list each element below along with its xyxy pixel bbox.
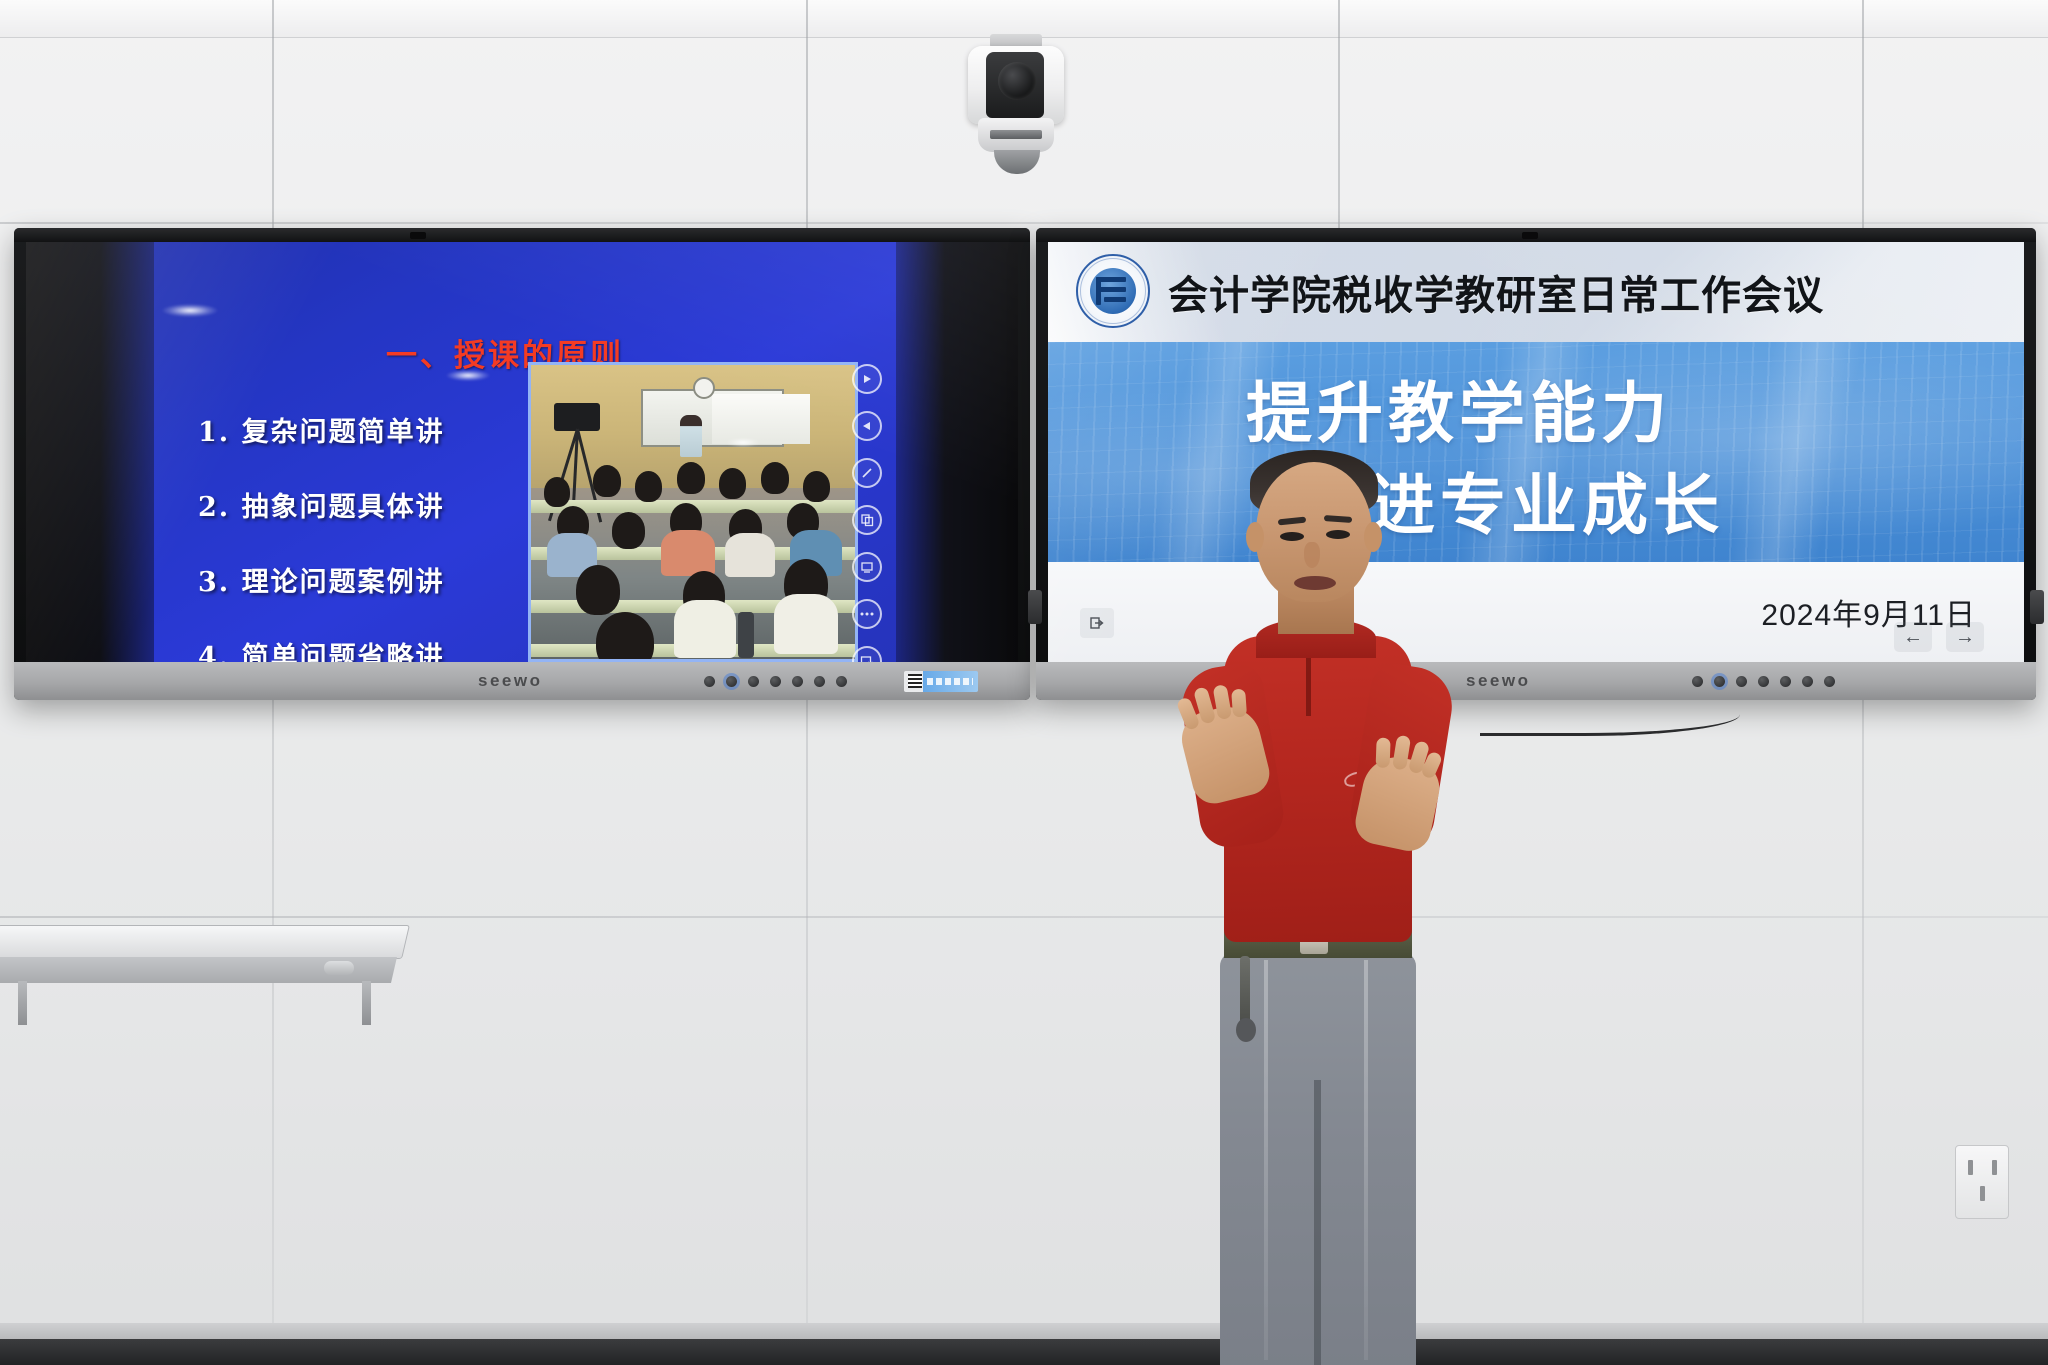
table-leg — [18, 981, 27, 1025]
qr-code-label — [904, 671, 978, 692]
qr-code-icon — [908, 674, 922, 688]
left-interactive-display[interactable]: 一、授课的原则 1. 复杂问题简单讲 2. 抽象问题具体讲 3. 理论问题案例讲… — [14, 228, 1030, 700]
presenter-nose — [1304, 542, 1320, 568]
photo-student-head — [635, 471, 662, 502]
play-icon[interactable] — [852, 364, 882, 394]
ir-sensor-icon — [410, 232, 426, 239]
previous-slide-button[interactable]: ← — [1894, 622, 1932, 652]
copy-icon[interactable] — [852, 505, 882, 535]
slide-photo-classroom — [528, 362, 858, 662]
control-button[interactable] — [704, 676, 715, 687]
presenter-ear — [1246, 522, 1264, 552]
display-side-button[interactable] — [1028, 590, 1042, 624]
control-button[interactable] — [792, 676, 803, 687]
wall-seam-horizontal — [0, 916, 2048, 918]
photo-student-head — [803, 471, 830, 502]
emblem-bar — [1096, 277, 1101, 305]
exit-show-icon[interactable] — [852, 646, 882, 662]
keys-lanyard — [1240, 956, 1250, 1026]
control-button[interactable] — [836, 676, 847, 687]
list-item: 3. 理论问题案例讲 — [198, 560, 445, 599]
list-item: 2. 抽象问题具体讲 — [198, 485, 445, 524]
table-leg — [362, 981, 371, 1025]
slide-letterbox-right — [896, 242, 1018, 662]
control-button[interactable] — [1736, 676, 1747, 687]
presenter-eye — [1326, 530, 1350, 539]
wall-outlet — [1955, 1145, 2009, 1219]
control-button[interactable] — [1802, 676, 1813, 687]
finger — [1231, 689, 1247, 718]
photo-student-head — [596, 612, 654, 662]
ptz-camera — [960, 34, 1072, 174]
presenter-eye — [1280, 532, 1304, 541]
presenter-mouth — [1294, 576, 1336, 590]
photo-student-body — [661, 530, 715, 576]
screen-share-icon[interactable] — [852, 552, 882, 582]
exit-fullscreen-icon[interactable] — [1080, 608, 1114, 638]
camera-base — [994, 150, 1040, 174]
power-button[interactable] — [1714, 676, 1725, 687]
presenter-ear — [1364, 522, 1382, 552]
ceiling-light-reflection — [162, 304, 218, 317]
control-button[interactable] — [1780, 676, 1791, 687]
photo-student-body — [725, 533, 775, 577]
university-emblem-icon — [1076, 254, 1150, 328]
photo-student-head — [612, 512, 645, 549]
presenter-person — [1128, 440, 1488, 1365]
previous-icon[interactable] — [852, 411, 882, 441]
emblem-bar — [1104, 297, 1126, 302]
trouser-crease — [1264, 960, 1268, 1360]
pen-icon[interactable] — [852, 458, 882, 488]
control-button[interactable] — [770, 676, 781, 687]
table-handle[interactable] — [324, 961, 354, 975]
control-button[interactable] — [748, 676, 759, 687]
table-top — [0, 925, 410, 959]
display-controls[interactable] — [704, 676, 847, 687]
control-button[interactable] — [1824, 676, 1835, 687]
ppt-toolbar[interactable] — [852, 364, 882, 662]
list-item: 1. 复杂问题简单讲 — [198, 410, 445, 449]
emblem-core — [1090, 268, 1136, 314]
control-button[interactable] — [814, 676, 825, 687]
trouser-leg-split — [1314, 1080, 1321, 1365]
photo-student-head — [576, 565, 620, 615]
outlet-slot — [1992, 1160, 1997, 1175]
photo-student-head — [761, 462, 789, 494]
ir-sensor-icon — [1522, 232, 1538, 239]
left-screen[interactable]: 一、授课的原则 1. 复杂问题简单讲 2. 抽象问题具体讲 3. 理论问题案例讲… — [26, 242, 1018, 662]
left-display-bezel — [14, 228, 1030, 242]
ceiling-light-reflection — [726, 438, 760, 447]
skirting-board — [0, 1323, 2048, 1339]
display-side-button[interactable] — [2030, 590, 2044, 624]
slide-header-band: 会计学院税收学教研室日常工作会议 — [1048, 242, 2024, 342]
photo-bottle — [738, 612, 754, 658]
control-button[interactable] — [1692, 676, 1703, 687]
power-button[interactable] — [726, 676, 737, 687]
photo-student-head — [677, 462, 705, 494]
photo-video-camera-icon — [554, 403, 600, 431]
side-table — [0, 925, 414, 1021]
photo-clock-icon — [693, 377, 715, 399]
wall-seam-horizontal — [0, 222, 2048, 224]
list-item: 4. 简单问题省略讲 — [198, 635, 445, 662]
ceiling-band — [0, 0, 2048, 38]
photo-student-body — [674, 600, 736, 658]
keys-icon — [1236, 1018, 1256, 1042]
camera-vent — [990, 130, 1042, 139]
meeting-title: 会计学院税收学教研室日常工作会议 — [1168, 263, 1824, 321]
qr-label-lines — [927, 678, 973, 685]
photo-teacher — [680, 415, 702, 457]
photo-student-head — [593, 465, 621, 497]
more-icon[interactable] — [852, 599, 882, 629]
hero-light-shaft — [1706, 342, 1881, 562]
camera-lens-icon — [998, 62, 1036, 100]
finger — [1376, 738, 1391, 768]
photo-student-head — [719, 468, 746, 499]
photo-projection-screen — [712, 394, 809, 444]
trouser-crease — [1364, 960, 1368, 1360]
slide-navigation[interactable]: ← → — [1894, 622, 1984, 652]
floor — [0, 1339, 2048, 1365]
photo-student-body — [774, 594, 838, 654]
slide-letterbox-left — [26, 242, 154, 662]
left-display-chin: seewo — [14, 662, 1030, 700]
next-slide-button[interactable]: → — [1946, 622, 1984, 652]
control-button[interactable] — [1758, 676, 1769, 687]
outlet-slot — [1968, 1160, 1973, 1175]
ceiling-light-reflection — [446, 370, 490, 381]
brand-label: seewo — [478, 671, 542, 691]
photo-student-head — [544, 477, 570, 507]
slide-bullet-list: 1. 复杂问题简单讲 2. 抽象问题具体讲 3. 理论问题案例讲 4. 简单问题… — [198, 410, 445, 662]
classroom-scene: 一、授课的原则 1. 复杂问题简单讲 2. 抽象问题具体讲 3. 理论问题案例讲… — [0, 0, 2048, 1365]
emblem-bar — [1100, 287, 1126, 292]
outlet-slot — [1980, 1186, 1985, 1201]
display-controls[interactable] — [1692, 676, 1835, 687]
